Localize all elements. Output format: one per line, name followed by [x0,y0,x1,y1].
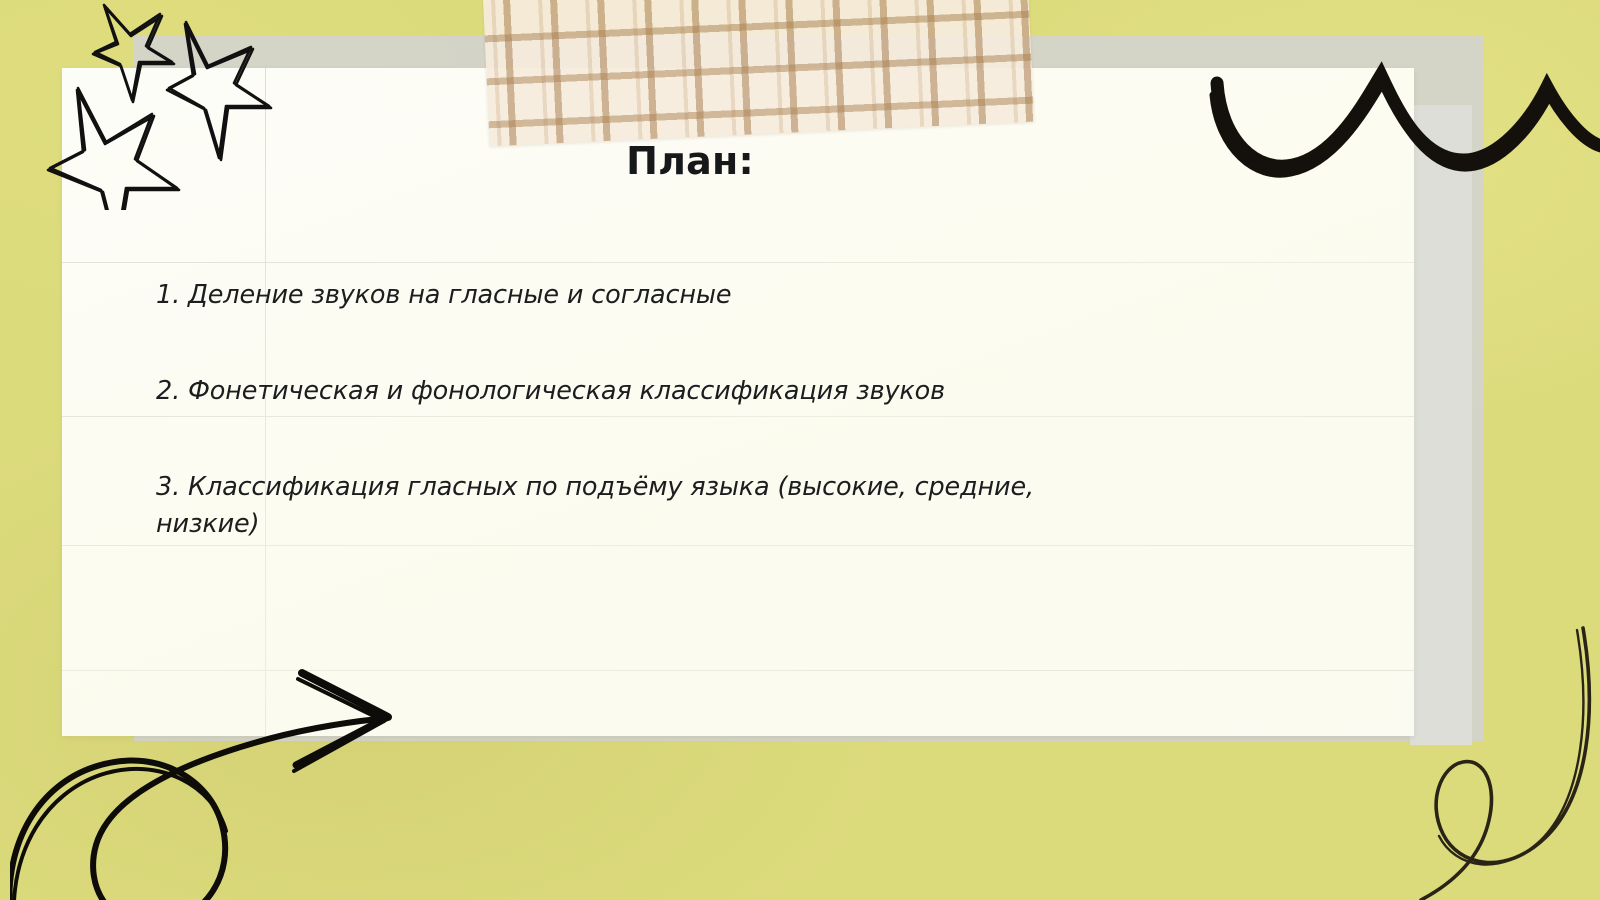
plan-list: 1. Деление звуков на гласные и согласные… [156,277,1216,542]
list-item: 3. Классификация гласных по подъёму язык… [156,469,1036,541]
slide-canvas: План: 1. Деление звуков на гласные и сог… [0,0,1600,900]
list-item: 2. Фонетическая и фонологическая классиф… [156,373,1216,409]
washi-tape [483,0,1034,146]
page-title: План: [420,139,960,183]
list-item: 1. Деление звуков на гласные и согласные [156,277,1216,313]
paper-shadow-right [1410,105,1472,745]
